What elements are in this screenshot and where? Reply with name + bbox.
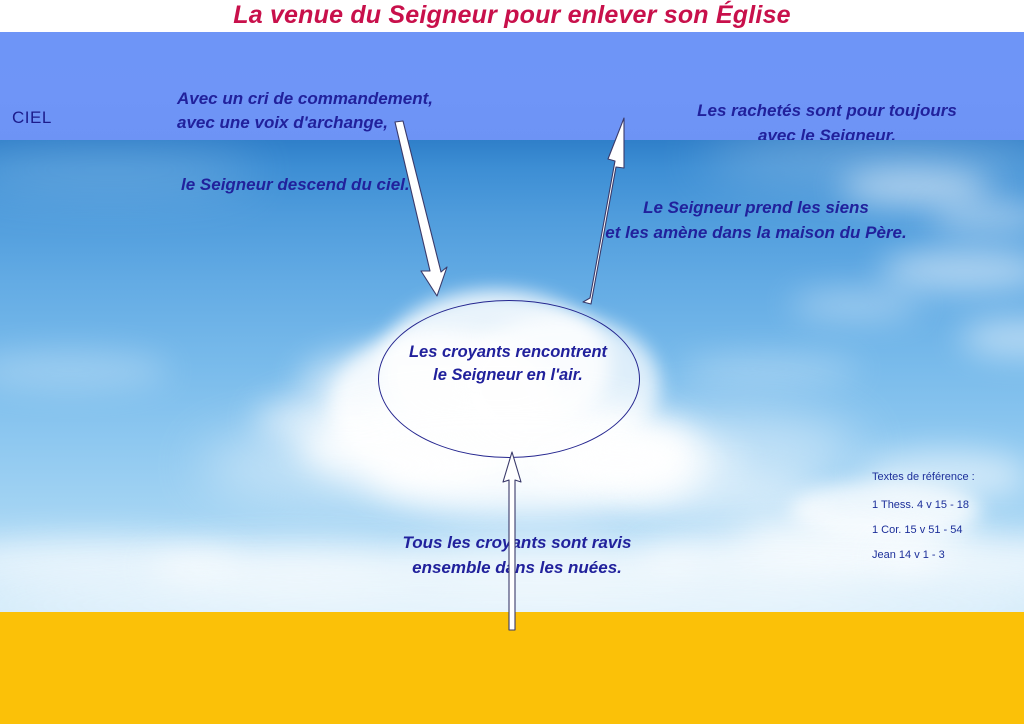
reference-item: 1 Thess. 4 v 15 - 18 xyxy=(872,500,1022,511)
reference-item: 1 Cor. 15 v 51 - 54 xyxy=(872,525,1022,536)
page-title: La venue du Seigneur pour enlever son Ég… xyxy=(0,1,1024,30)
cloud-mid xyxy=(0,350,170,390)
diagram-canvas: La venue du Seigneur pour enlever son Ég… xyxy=(0,0,1024,724)
cloud-wisp xyxy=(790,290,920,320)
earth-band: TERRE En un clin d'oeil - les croyants q… xyxy=(0,612,1024,724)
heaven-band: CIEL Avec un cri de commandement, avec u… xyxy=(0,32,1024,140)
text-believers-caught-up: Tous les croyants sont ravis ensemble da… xyxy=(372,530,662,580)
text-lord-descends: le Seigneur descend du ciel. xyxy=(181,175,410,195)
cloud-wisp xyxy=(880,250,1024,290)
reference-item: Jean 14 v 1 - 3 xyxy=(872,550,1022,561)
meeting-ellipse-label: Les croyants rencontrent le Seigneur en … xyxy=(378,341,638,387)
cloud-wisp xyxy=(680,355,860,383)
text-lord-takes-his-own: Le Seigneur prend les siens et les amène… xyxy=(566,195,946,245)
title-band: La venue du Seigneur pour enlever son Ég… xyxy=(0,0,1024,32)
reference-texts-block: Textes de référence : 1 Thess. 4 v 15 - … xyxy=(872,472,1022,575)
cloud-horizon xyxy=(0,585,1024,612)
heaven-label: CIEL xyxy=(12,108,52,128)
reference-heading: Textes de référence : xyxy=(872,472,1022,483)
cloud-wisp xyxy=(960,320,1024,356)
